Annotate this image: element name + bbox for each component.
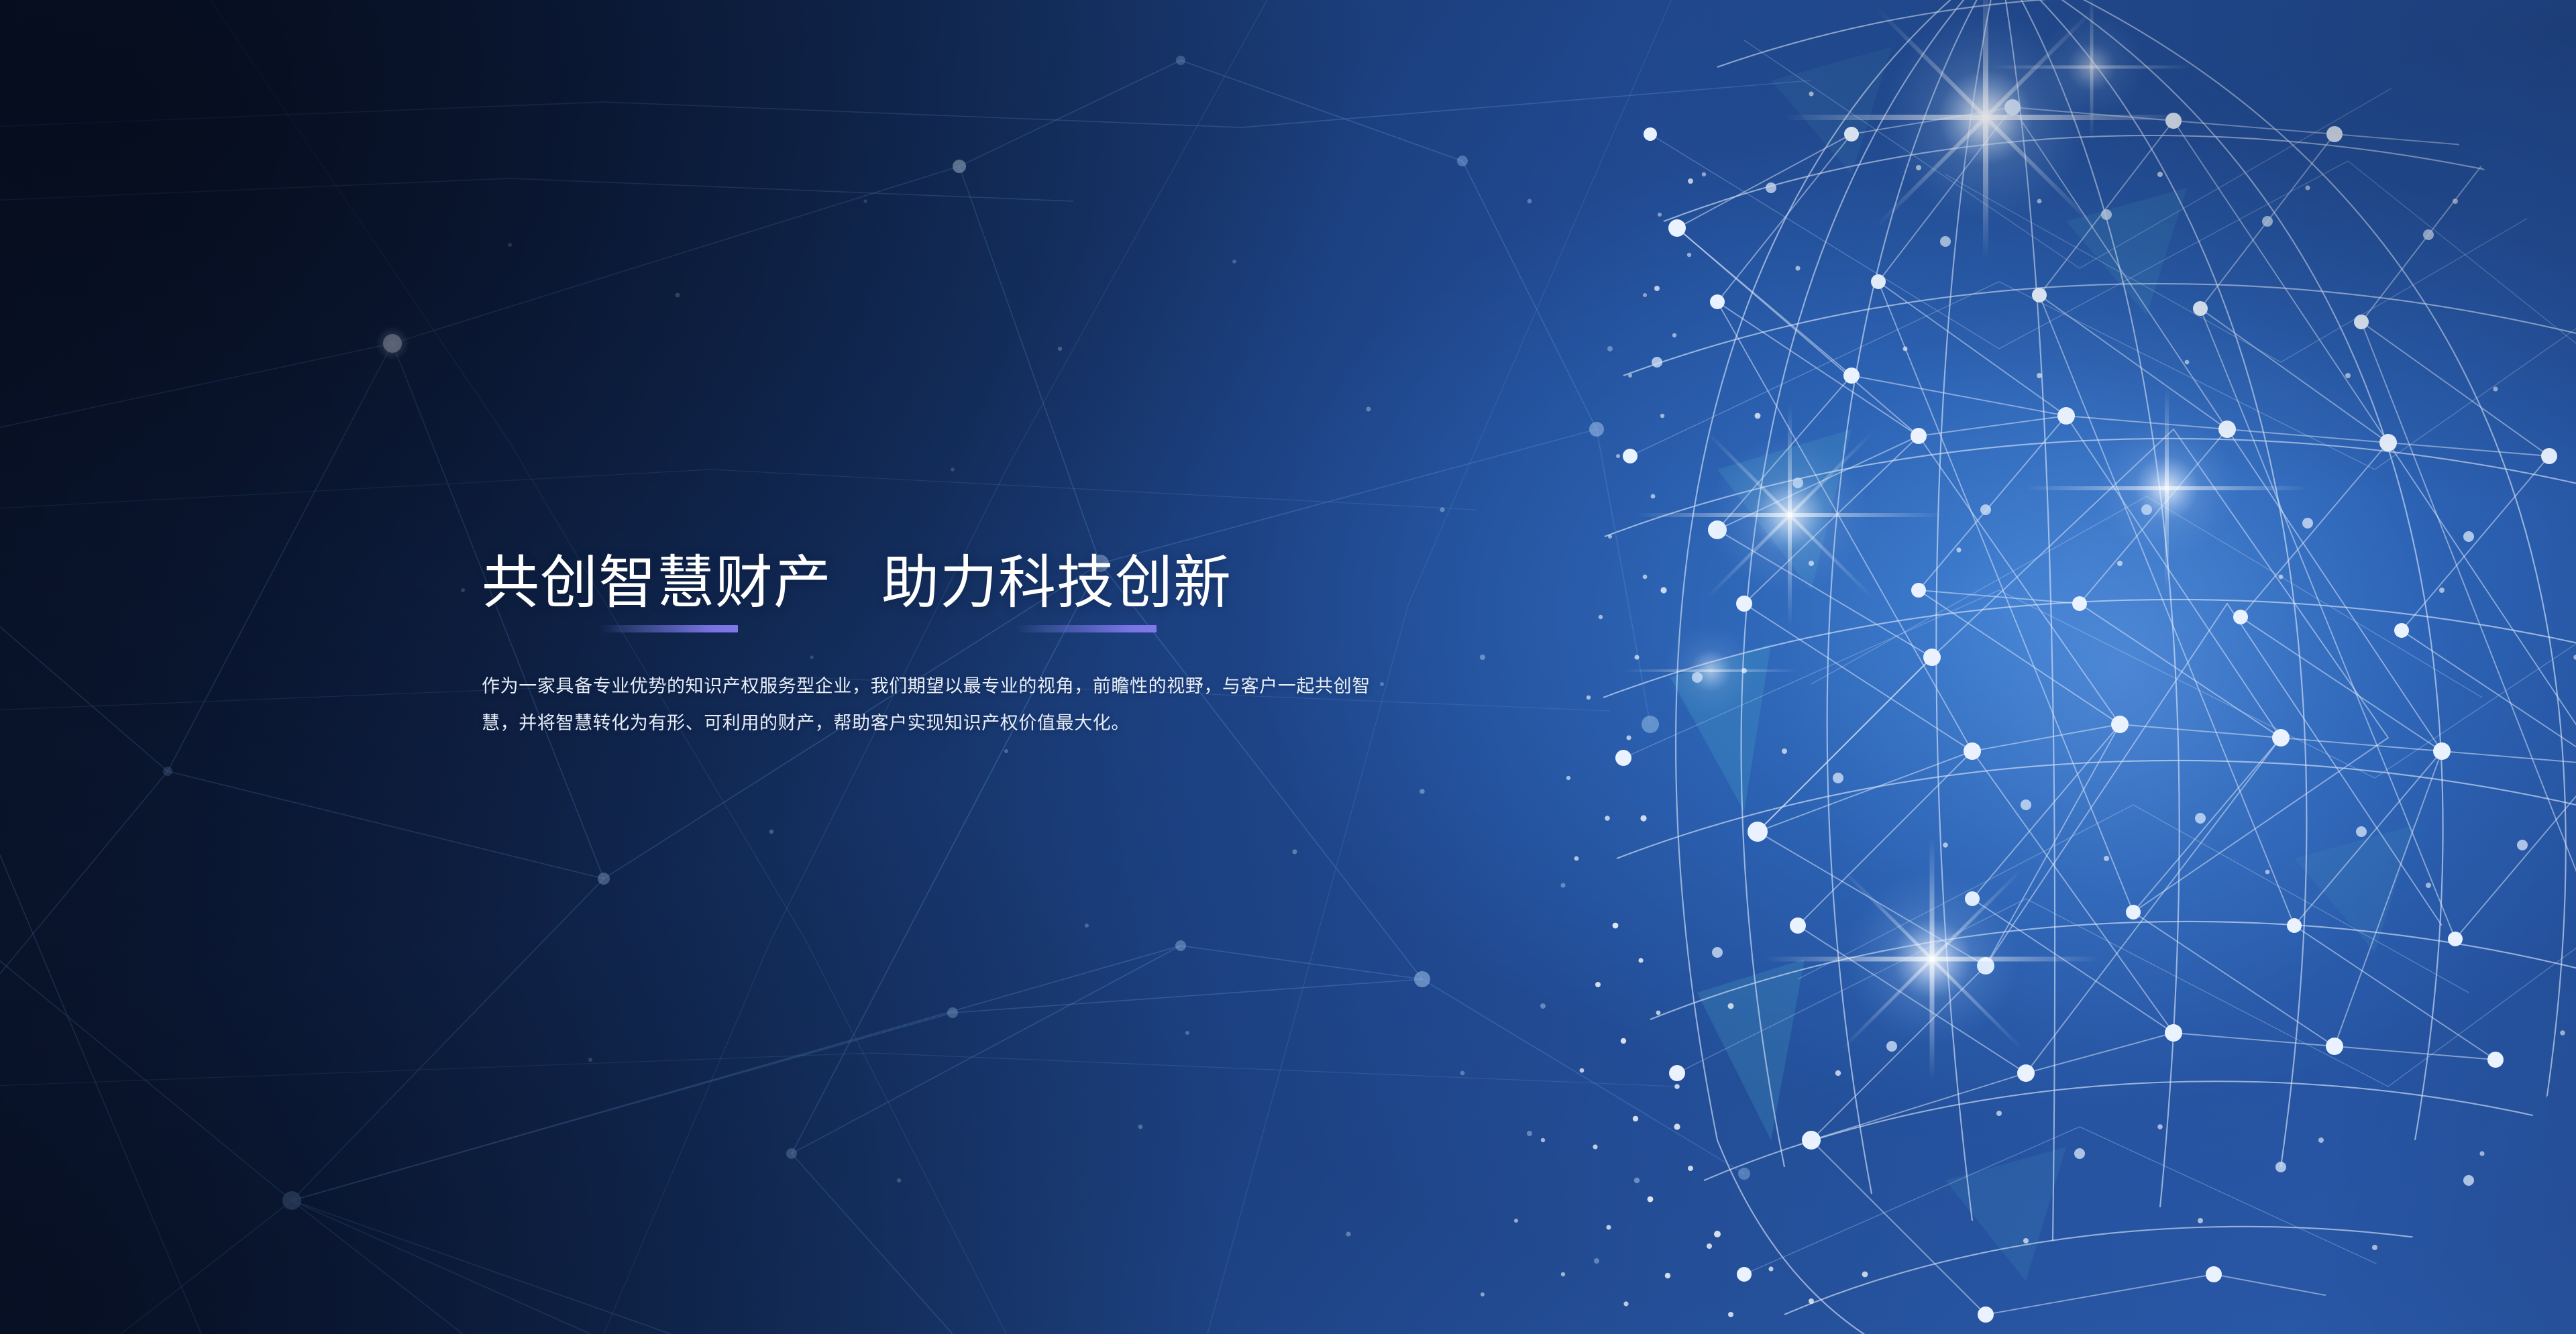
underline-accent-bar-1: [600, 625, 738, 632]
hero-content: 共创智慧财产 助力科技创新 作为一家具备专业优势的知识产权服务型企业，我们期望以…: [482, 554, 1421, 760]
headline-segment-1: 共创智慧财产: [482, 551, 832, 615]
hero-subcopy: 作为一家具备专业优势的知识产权服务型企业，我们期望以最专业的视角，前瞻性的视野，…: [482, 668, 1386, 742]
underline-accent-bar-2: [1016, 625, 1157, 632]
headline-segment-2-wrap: 助力科技创新: [881, 554, 1232, 613]
headline-segment-1-wrap: 共创智慧财产: [482, 554, 832, 613]
hero-banner: 共创智慧财产 助力科技创新 作为一家具备专业优势的知识产权服务型企业，我们期望以…: [0, 0, 2576, 1334]
page-title: 共创智慧财产 助力科技创新: [482, 554, 1421, 613]
headline-segment-2: 助力科技创新: [881, 551, 1232, 615]
